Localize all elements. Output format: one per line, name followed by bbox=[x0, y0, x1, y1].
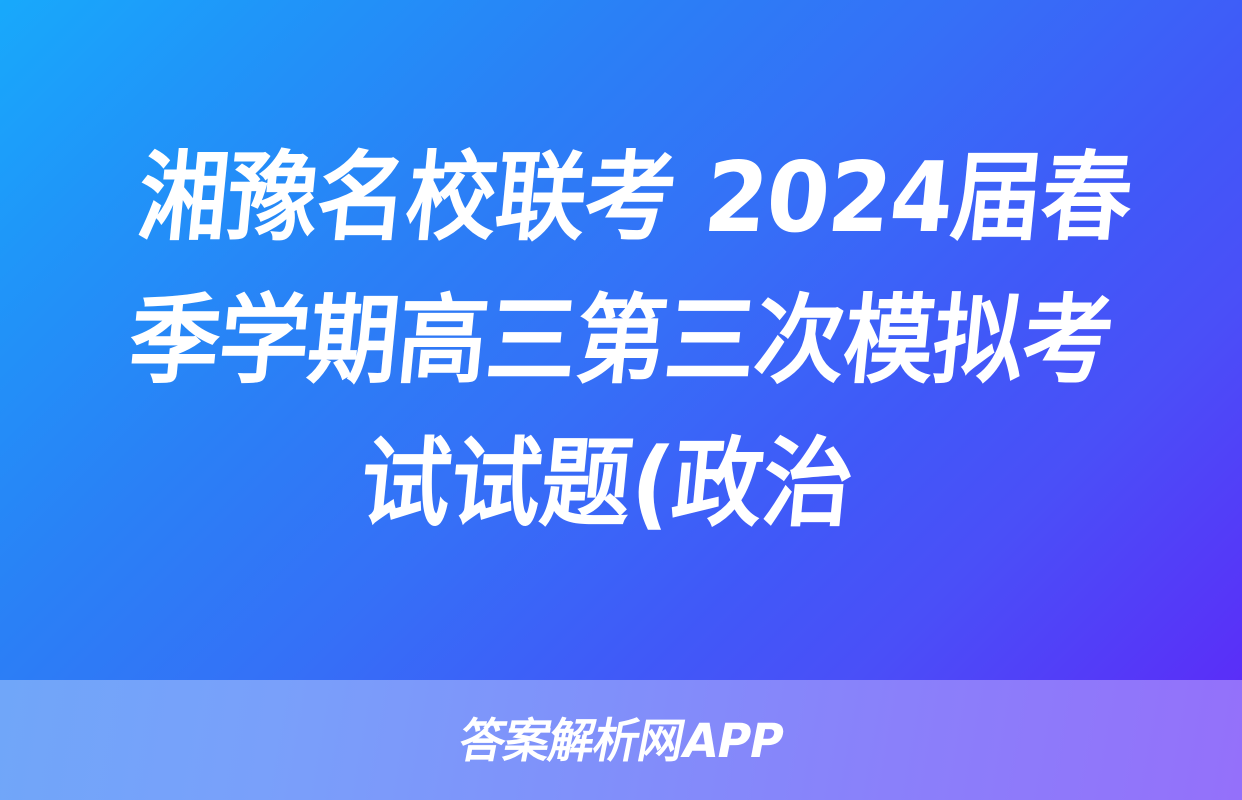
page-title-line-1: 湘豫名校联考 2024届春 bbox=[116, 126, 1153, 269]
watermark-app-label: 答案解析网APP bbox=[455, 718, 786, 765]
page-title-line-3: 试试题(政治 bbox=[89, 412, 1126, 555]
page-title-line-2: 季学期高三第三次模拟考 bbox=[103, 269, 1140, 412]
poster-screen: 湘豫名校联考 2024届春 季学期高三第三次模拟考 试试题(政治 答案解析网AP… bbox=[0, 0, 1242, 800]
hero-gradient-panel: 湘豫名校联考 2024届春 季学期高三第三次模拟考 试试题(政治 bbox=[0, 0, 1242, 680]
watermark-band: 答案解析网APP bbox=[0, 680, 1242, 800]
page-title: 湘豫名校联考 2024届春 季学期高三第三次模拟考 试试题(政治 bbox=[89, 126, 1154, 555]
